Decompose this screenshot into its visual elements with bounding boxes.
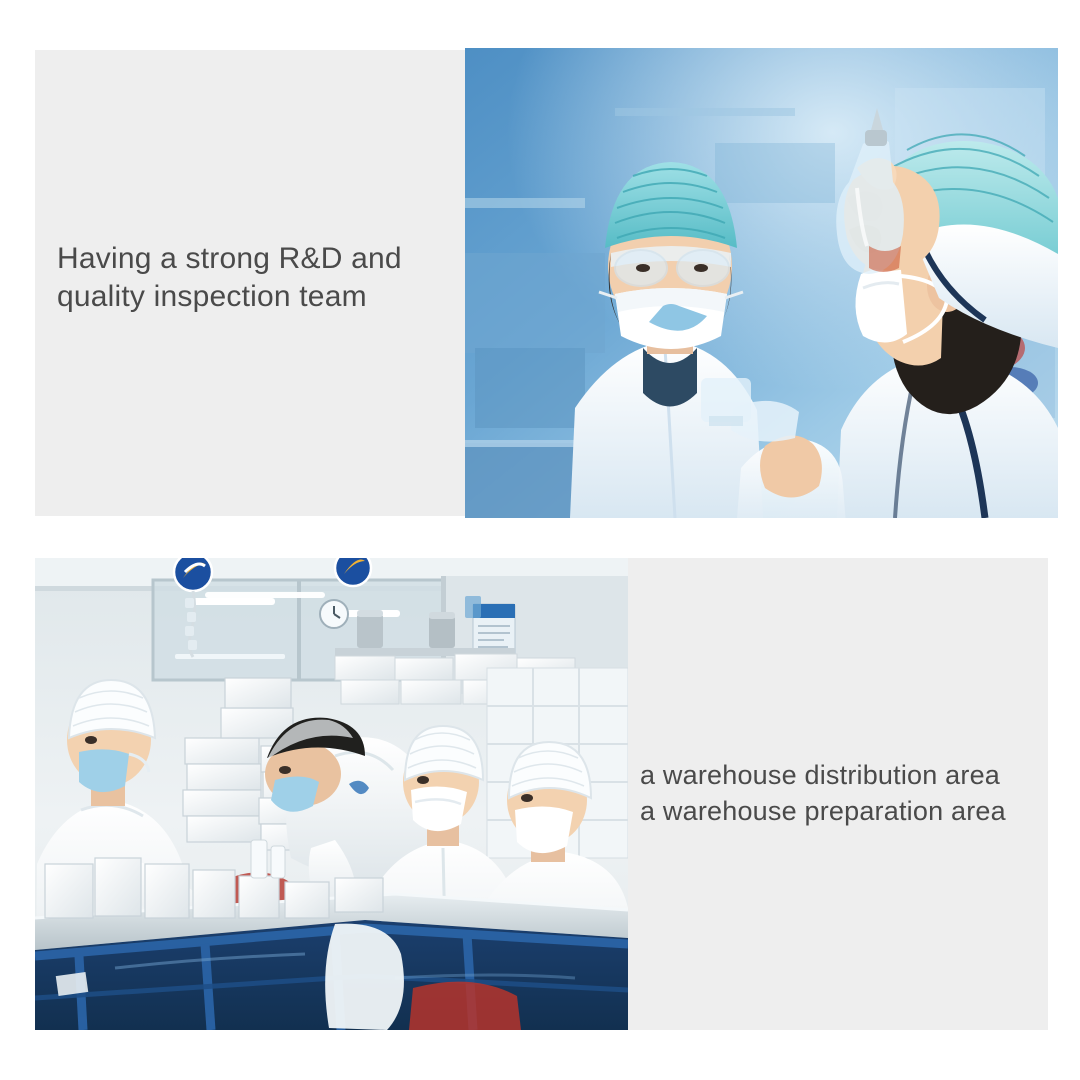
ceiling-sign-right: [335, 558, 371, 586]
wall-clock: [320, 600, 348, 628]
section-rd-quality: Having a strong R&D and quality inspecti…: [35, 48, 1058, 518]
warehouse-packing-photo: [35, 558, 628, 1030]
lab-technicians-photo: [465, 48, 1058, 518]
lab-technicians-illustration: [465, 48, 1058, 518]
ceiling-sign-left: [174, 558, 212, 591]
page-canvas: Having a strong R&D and quality inspecti…: [0, 0, 1080, 1080]
section-warehouse: a warehouse distribution area a warehous…: [35, 558, 1048, 1030]
caption-warehouse: a warehouse distribution area a warehous…: [640, 758, 1060, 829]
warehouse-packing-illustration: [35, 558, 628, 1030]
caption-rd-quality: Having a strong R&D and quality inspecti…: [57, 240, 457, 317]
